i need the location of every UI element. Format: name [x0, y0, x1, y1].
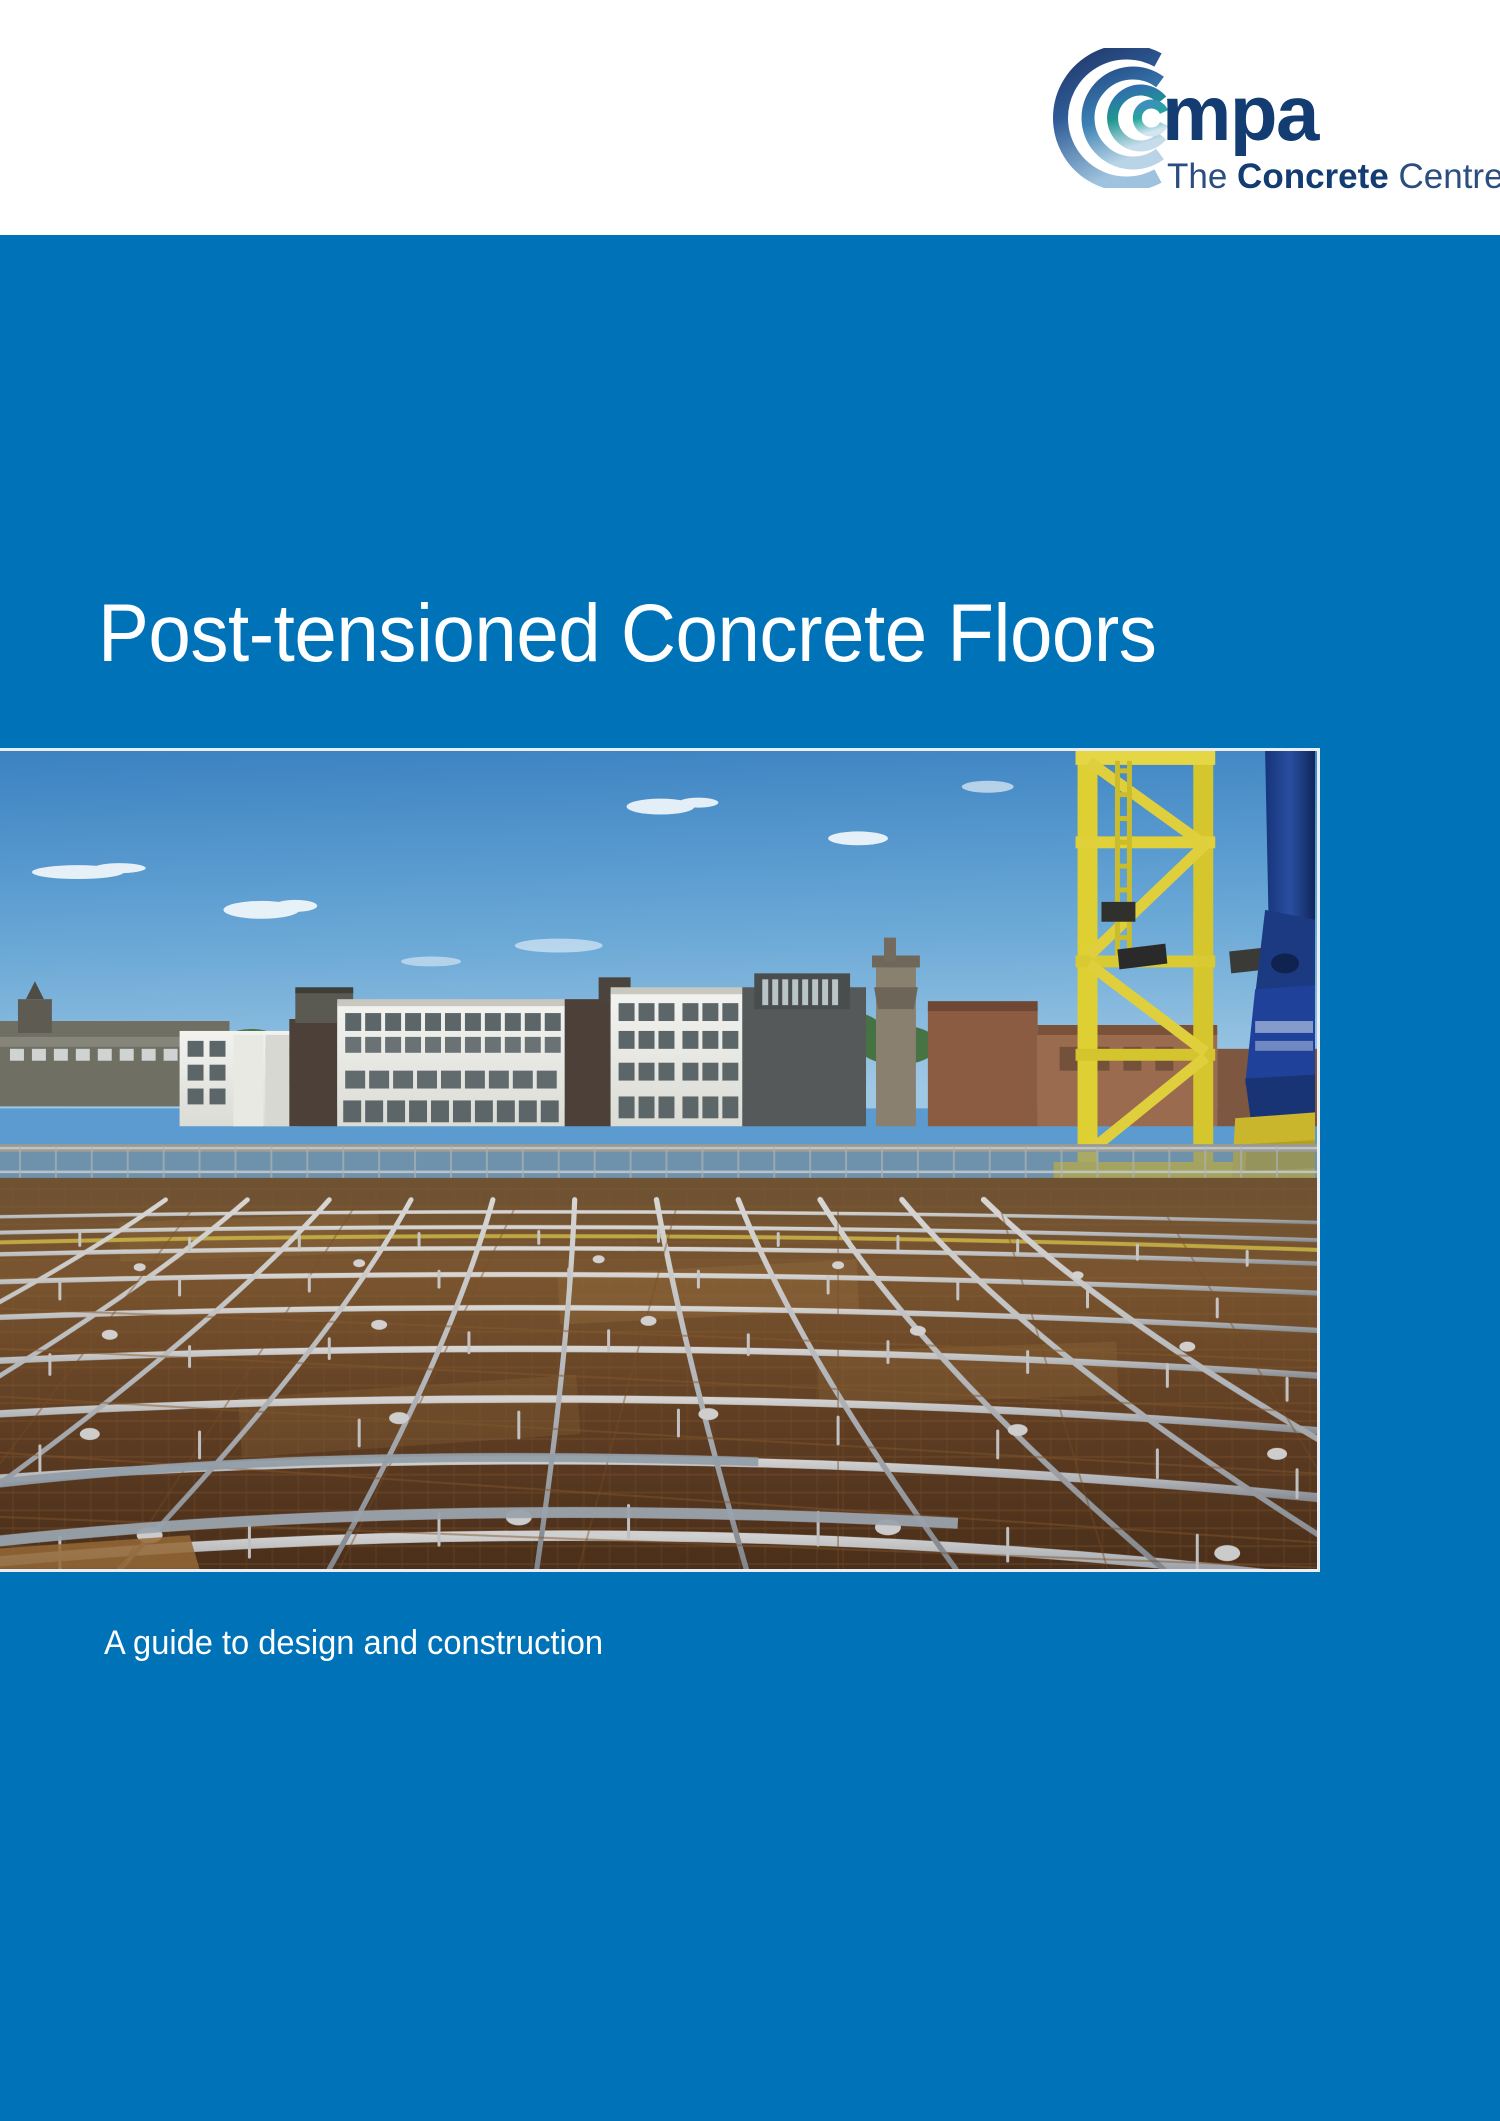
page-title: Post-tensioned Concrete Floors [98, 591, 1335, 678]
cover-subtitle: A guide to design and construction [104, 1625, 603, 1662]
mpa-concentric-arcs-logo [1032, 48, 1182, 188]
mpa-concrete-centre-logo: mpa The Concrete Centre [1020, 46, 1440, 201]
mpa-wordmark: mpa [1162, 74, 1318, 152]
cover-photograph [0, 748, 1320, 1572]
tagline-suffix: Centre [1389, 157, 1500, 196]
header-band: mpa The Concrete Centre [0, 0, 1500, 235]
cover-page: mpa The Concrete Centre Post-tensioned C… [0, 0, 1500, 2121]
tagline-prefix: The [1167, 157, 1237, 196]
tagline-bold: Concrete [1237, 157, 1389, 196]
cover-photograph-canvas [0, 751, 1317, 1569]
concrete-centre-tagline: The Concrete Centre [1167, 159, 1500, 194]
